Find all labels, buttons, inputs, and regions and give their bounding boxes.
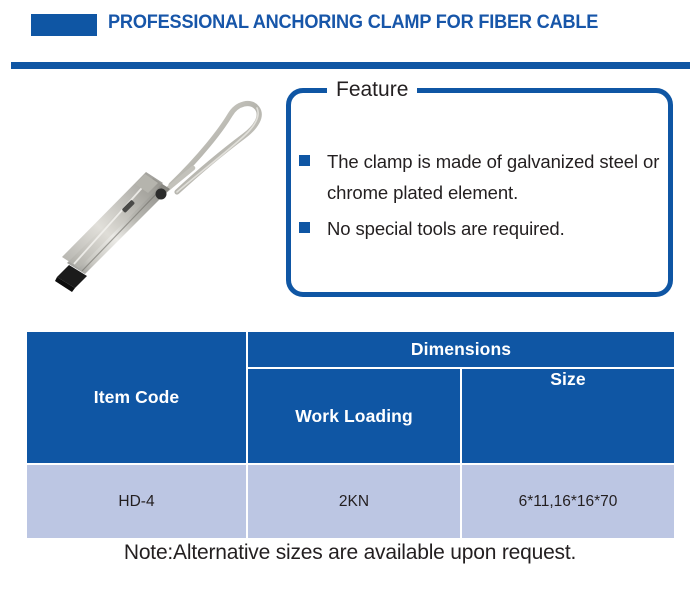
cell-size: 6*11,16*16*70 — [461, 464, 675, 539]
square-bullet-icon — [299, 155, 310, 166]
table-body: HD-4 2KN 6*11,16*16*70 — [26, 464, 675, 539]
specification-table: Item Code Dimensions Work Loading Size H… — [25, 330, 676, 540]
column-header-size: Size — [461, 368, 675, 464]
cell-item-code: HD-4 — [26, 464, 247, 539]
list-item: No special tools are required. — [297, 213, 669, 244]
table-header: Item Code Dimensions Work Loading Size — [26, 331, 675, 464]
cell-work-loading: 2KN — [247, 464, 461, 539]
column-header-item-code: Item Code — [26, 331, 247, 464]
table-note: Note:Alternative sizes are available upo… — [0, 541, 700, 565]
header-divider-rule — [11, 62, 690, 69]
column-header-work-loading: Work Loading — [247, 368, 461, 464]
column-header-dimensions: Dimensions — [247, 331, 675, 368]
feature-list: The clamp is made of galvanized steel or… — [297, 146, 669, 249]
list-item: The clamp is made of galvanized steel or… — [297, 146, 669, 208]
table-row: HD-4 2KN 6*11,16*16*70 — [26, 464, 675, 539]
feature-item-text: No special tools are required. — [327, 213, 669, 244]
feature-box-legend: Feature — [327, 79, 417, 100]
page-header: PROFESSIONAL ANCHORING CLAMP FOR FIBER C… — [0, 0, 700, 55]
square-bullet-icon — [299, 222, 310, 233]
feature-item-text: The clamp is made of galvanized steel or… — [327, 146, 669, 208]
header-color-block — [31, 14, 97, 36]
table-header-row-1: Item Code Dimensions — [26, 331, 675, 368]
anchoring-clamp-illustration — [25, 82, 280, 304]
page-title: PROFESSIONAL ANCHORING CLAMP FOR FIBER C… — [108, 11, 598, 34]
product-image — [25, 82, 280, 304]
